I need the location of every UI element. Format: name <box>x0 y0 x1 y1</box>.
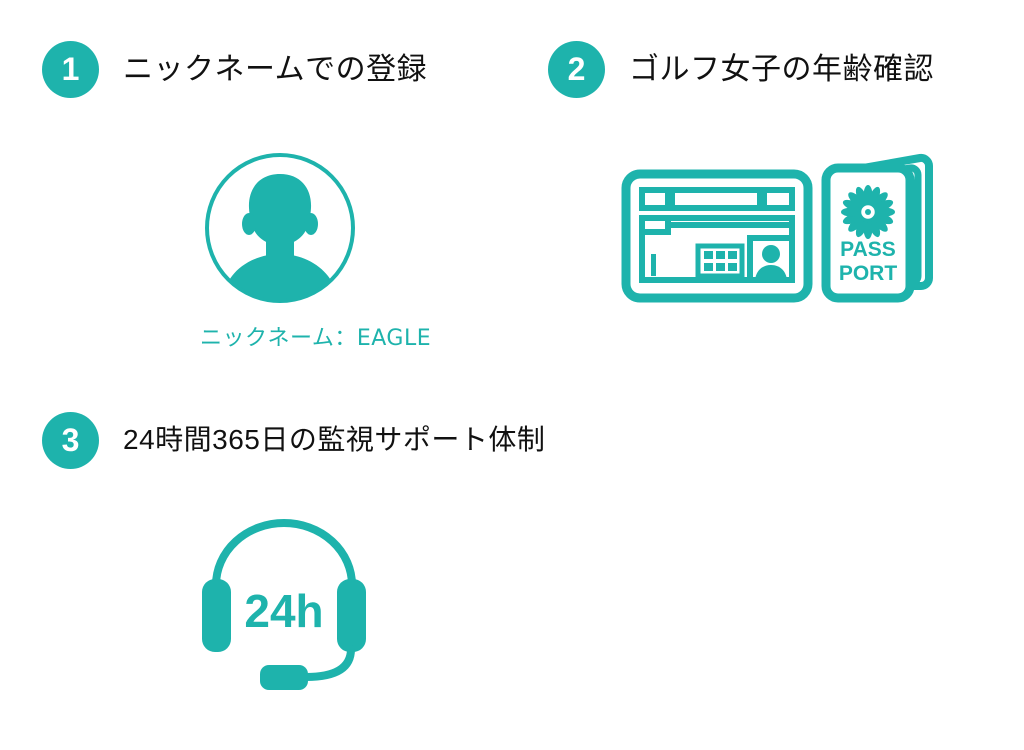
step-2-header: 2 ゴルフ女子の年齢確認 <box>548 40 998 98</box>
step-3-figure: 24h <box>198 515 373 690</box>
step-2-figure: PASS PORT <box>620 150 940 310</box>
step-2-title: ゴルフ女子の年齢確認 <box>629 53 934 86</box>
step-number-badge-2: 2 <box>548 41 605 98</box>
step-block-1: 1 ニックネームでの登録 <box>42 40 512 98</box>
step-3-title: 24時間365日の監視サポート体制 <box>123 425 545 456</box>
steps-board: 1 ニックネームでの登録 ニックネーム：EAG <box>0 0 1024 750</box>
step-1-figure: ニックネーム：EAGLE <box>200 148 360 352</box>
step-block-2: 2 ゴルフ女子の年齢確認 <box>548 40 998 98</box>
step-number-badge-1: 1 <box>42 41 99 98</box>
avatar-icon <box>200 148 360 308</box>
step-3-header: 3 24時間365日の監視サポート体制 <box>42 411 562 469</box>
step-1-header: 1 ニックネームでの登録 <box>42 40 512 98</box>
nickname-caption: ニックネーム：EAGLE <box>200 320 360 352</box>
headset-icon: 24h <box>198 515 373 690</box>
chrysanthemum-emblem-icon <box>841 185 895 239</box>
passport-label-line2: PORT <box>839 262 898 285</box>
step-number-badge-3: 3 <box>42 412 99 469</box>
id-card-icon <box>626 174 808 298</box>
step-block-3: 3 24時間365日の監視サポート体制 <box>42 411 562 469</box>
passport-icon: PASS PORT <box>826 158 929 298</box>
passport-label-line1: PASS <box>840 238 896 261</box>
id-passport-icon: PASS PORT <box>620 150 940 310</box>
headset-label: 24h <box>244 585 323 637</box>
step-1-title: ニックネームでの登録 <box>123 53 427 86</box>
